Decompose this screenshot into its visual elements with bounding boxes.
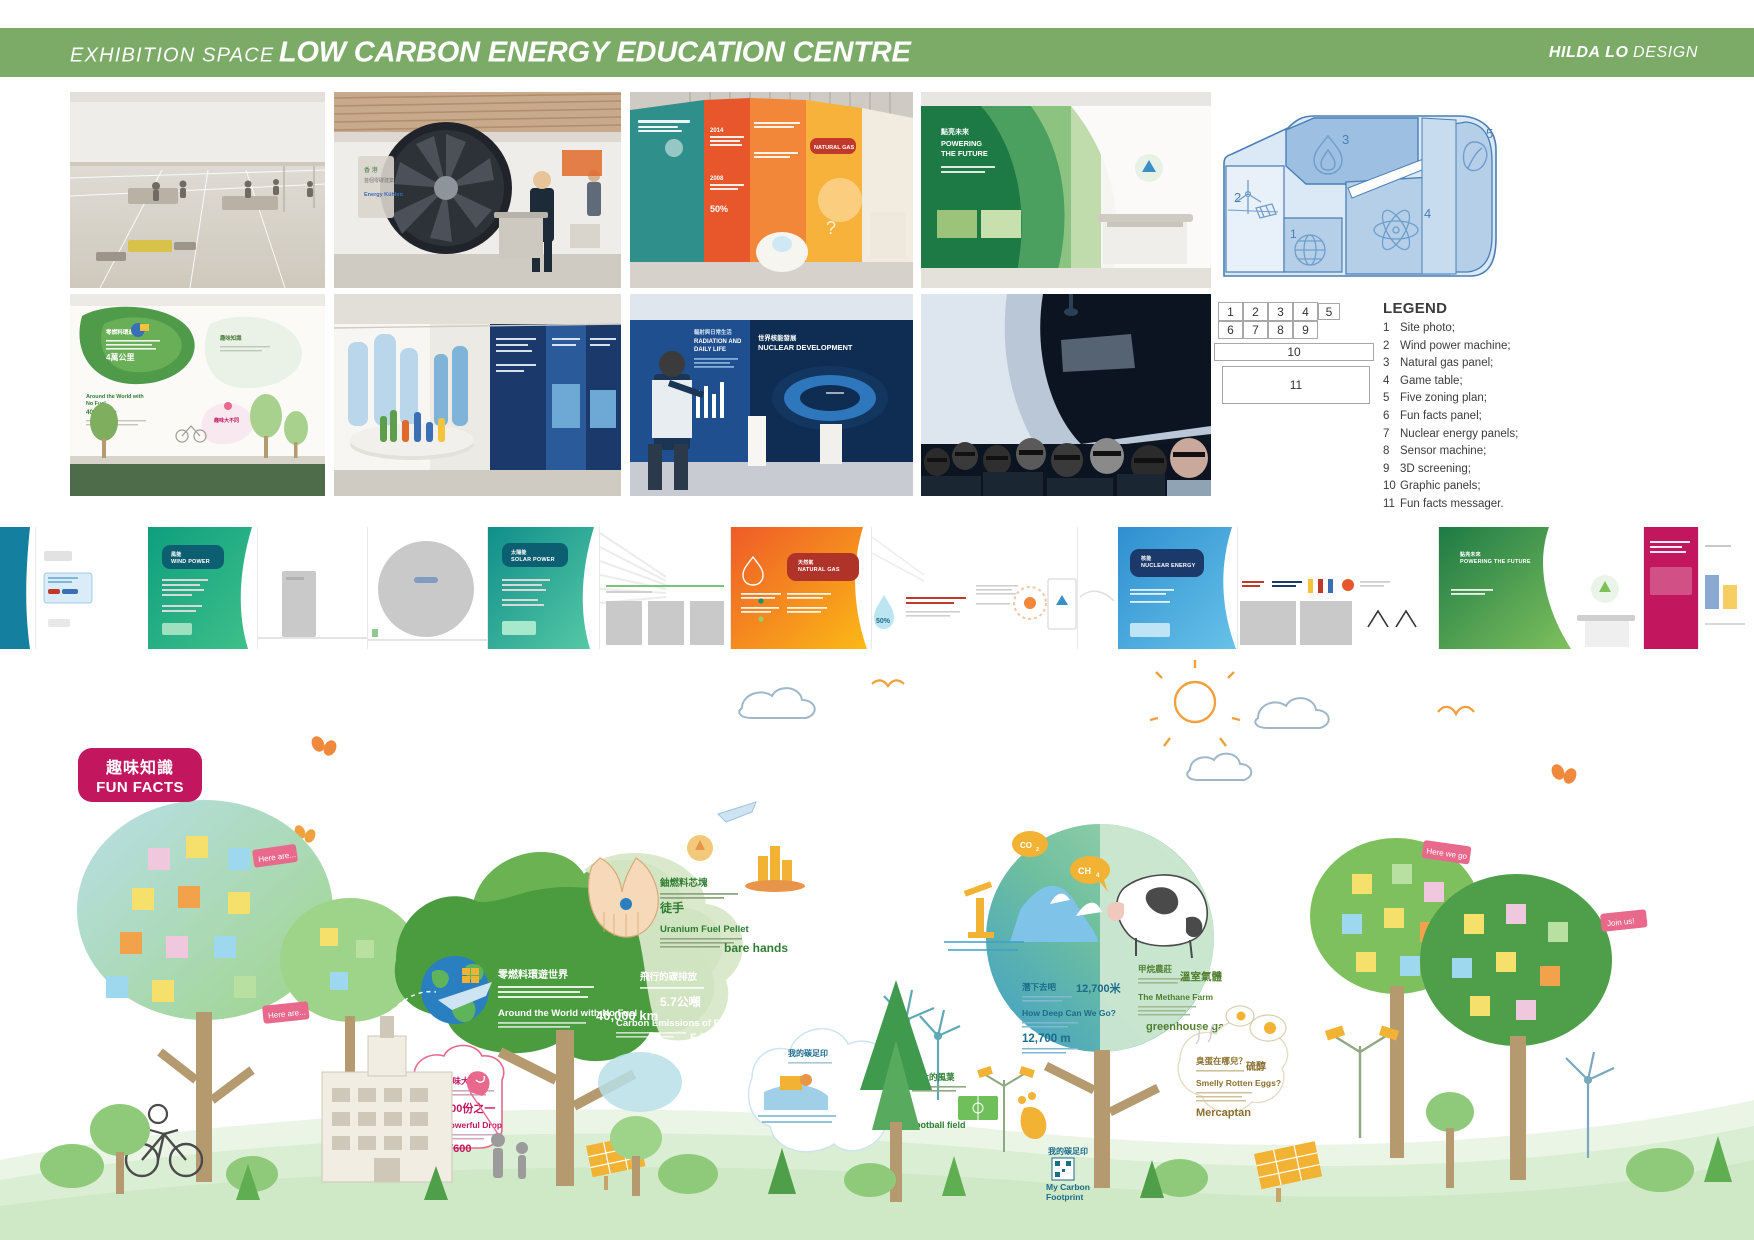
- legend-item-8: 8 Sensor machine;: [1383, 443, 1633, 461]
- svg-text:潛下去吧: 潛下去吧: [1022, 982, 1057, 992]
- legend-item-number: 7: [1383, 426, 1400, 444]
- legend-item-9: 9 3D screening;: [1383, 461, 1633, 479]
- co2-bubble-icon: CO 2: [1012, 831, 1048, 857]
- strip-panel-intro: [0, 527, 36, 649]
- svg-text:零燃料環遊世界: 零燃料環遊世界: [497, 968, 568, 981]
- legend-item-number: 1: [1383, 320, 1400, 338]
- svg-text:世界核能發展: 世界核能發展: [758, 333, 797, 342]
- svg-text:徒手: 徒手: [659, 900, 684, 915]
- strip-tag-cn: 風能: [171, 552, 210, 559]
- svg-text:Smelly Rotten Eggs?: Smelly Rotten Eggs?: [1196, 1078, 1281, 1088]
- legend-item-label: Game table;: [1400, 373, 1633, 391]
- strip-panel-wind-turbine: [258, 527, 368, 649]
- svg-text:我的碳足印: 我的碳足印: [788, 1048, 828, 1058]
- svg-text:?: ?: [826, 218, 836, 238]
- football-field-icon: [958, 1096, 998, 1120]
- svg-text:點亮未來: 點亮未來: [940, 127, 970, 136]
- legend-item-4: 4 Game table;: [1383, 373, 1633, 391]
- svg-text:溫室氣體: 溫室氣體: [1180, 970, 1222, 983]
- svg-text:50%: 50%: [876, 618, 891, 625]
- key-box-3: 3: [1268, 302, 1293, 321]
- building-icon: [322, 1016, 452, 1182]
- strip-tag-natural-gas: 天然氣 NATURAL GAS: [793, 557, 845, 577]
- svg-text:NUCLEAR DEVELOPMENT: NUCLEAR DEVELOPMENT: [758, 343, 853, 352]
- legend-item-number: 9: [1383, 461, 1400, 479]
- mural-illustration: Here are...: [0, 660, 1754, 1240]
- zone-number-4: 4: [1424, 206, 1431, 221]
- svg-text:Powerful Drop: Powerful Drop: [444, 1120, 502, 1130]
- legend-item-2: 2 Wind power machine;: [1383, 338, 1633, 356]
- legend-item-label: Nuclear energy panels;: [1400, 426, 1633, 444]
- strip-panel-intro-card: [36, 527, 148, 649]
- svg-text:Uranium Fuel Pellet: Uranium Fuel Pellet: [660, 924, 750, 935]
- legend-item-number: 10: [1383, 478, 1400, 496]
- svg-text:5.7公噸: 5.7公噸: [660, 994, 701, 1009]
- designer-role: DESIGN: [1633, 44, 1698, 61]
- legend-item-number: 6: [1383, 408, 1400, 426]
- svg-text:CH: CH: [1078, 866, 1091, 876]
- legend-item-number: 11: [1383, 496, 1400, 514]
- svg-text:5.7 tonnes: 5.7 tonnes: [690, 1031, 750, 1045]
- svg-text:首個零碳建築: 首個零碳建築: [364, 177, 394, 184]
- legend-item-label: Sensor machine;: [1400, 443, 1633, 461]
- strip-tag-cn: 核能: [1141, 556, 1195, 563]
- page-header: EXHIBITION SPACE LOW CARBON ENERGY EDUCA…: [0, 28, 1754, 77]
- strip-panel-wind-power: 風能 WIND POWER: [148, 527, 258, 649]
- svg-text:2: 2: [1036, 847, 1039, 853]
- photo-nuclear-energy-panels: [334, 294, 621, 496]
- strip-panel-turbine-disc: [368, 527, 488, 649]
- svg-text:Energy Kühlen: Energy Kühlen: [364, 192, 403, 198]
- legend-item-label: Fun facts panel;: [1400, 408, 1633, 426]
- svg-text:NATURAL GAS: NATURAL GAS: [814, 145, 854, 151]
- strip-panel-natural-gas: 天然氣 NATURAL GAS: [731, 527, 872, 649]
- photo-site-photo: [70, 92, 325, 288]
- key-box-1: 1: [1218, 302, 1243, 321]
- legend-item-number: 2: [1383, 338, 1400, 356]
- svg-text:My Carbon: My Carbon: [1046, 1182, 1090, 1192]
- svg-text:The Methane Farm: The Methane Farm: [1138, 992, 1214, 1002]
- svg-text:Mercaptan: Mercaptan: [1196, 1107, 1251, 1119]
- svg-text:趣味知識: 趣味知識: [219, 334, 242, 342]
- strip-tag-cn: 太陽能: [511, 550, 555, 557]
- strip-panel-nuclear-info: [1238, 527, 1439, 649]
- strip-panel-gas-info: 50%: [872, 527, 1078, 649]
- svg-text:臭蛋在哪兒？: 臭蛋在哪兒？: [1196, 1056, 1247, 1066]
- svg-text:Carbon Emissions of Flying: Carbon Emissions of Flying: [616, 1018, 742, 1029]
- page-title: EXHIBITION SPACE LOW CARBON ENERGY EDUCA…: [70, 36, 911, 69]
- fun-facts-badge-cn: 趣味知識: [106, 754, 174, 778]
- sun-icon: [1150, 660, 1240, 746]
- zone-number-5: 5: [1486, 126, 1493, 141]
- fun-facts-badge-en: FUN FACTS: [96, 779, 184, 796]
- strip-panel-solar-power: 太陽能 SOLAR POWER: [488, 527, 600, 649]
- svg-text:CO: CO: [1020, 841, 1032, 850]
- strip-tag-cn: 點亮未來: [1460, 552, 1531, 559]
- svg-text:4萬公里: 4萬公里: [106, 352, 134, 362]
- fun-facts-mural: Here are...: [0, 660, 1754, 1240]
- strip-tag-en: NATURAL GAS: [798, 567, 840, 573]
- designer-name: HILDA LO: [1549, 44, 1629, 61]
- legend-item-number: 5: [1383, 390, 1400, 408]
- legend-item-label: Wind power machine;: [1400, 338, 1633, 356]
- strip-tag-wind-power: 風能 WIND POWER: [166, 549, 215, 569]
- qr-code-icon: [1052, 1158, 1074, 1180]
- zone-number-1: 1: [1290, 227, 1297, 241]
- key-box-2: 2: [1243, 302, 1268, 321]
- key-box-11: 11: [1222, 366, 1370, 404]
- legend-item-label: Five zoning plan;: [1400, 390, 1633, 408]
- key-box-6: 6: [1218, 321, 1243, 339]
- zone-5-shape: [1454, 122, 1492, 272]
- zone-number-3: 3: [1342, 132, 1349, 147]
- legend-item-label: Site photo;: [1400, 320, 1633, 338]
- photo-game-table: 點亮未來 POWERING THE FUTURE: [921, 92, 1211, 288]
- legend: LEGEND 1 Site photo; 2 Wind power machin…: [1383, 300, 1633, 514]
- legend-item-10: 10 Graphic panels;: [1383, 478, 1633, 496]
- five-zoning-plan: 3 2 1 4 5: [1218, 110, 1502, 278]
- svg-text:Footprint: Footprint: [1046, 1192, 1083, 1202]
- strip-tag-solar-power: 太陽能 SOLAR POWER: [506, 547, 560, 567]
- strip-tag-powering-the-future: 點亮未來 POWERING THE FUTURE: [1455, 549, 1536, 569]
- designer-credit: HILDA LO DESIGN: [1549, 44, 1698, 62]
- svg-text:How Deep Can We Go?: How Deep Can We Go?: [1022, 1008, 1116, 1018]
- legend-item-label: Natural gas panel;: [1400, 355, 1633, 373]
- strip-panel-magenta: [1644, 527, 1699, 649]
- svg-text:THE FUTURE: THE FUTURE: [941, 149, 988, 158]
- legend-item-number: 3: [1383, 355, 1400, 373]
- page-title-main: LOW CARBON ENERGY EDUCATION CENTRE: [279, 36, 911, 68]
- zone-2-shape: [1226, 166, 1284, 272]
- fun-facts-badge: 趣味知識 FUN FACTS: [78, 748, 202, 802]
- strip-tag-cn: 天然氣: [798, 560, 840, 567]
- cloud-icon: [739, 688, 1328, 780]
- svg-text:DAILY LIFE: DAILY LIFE: [694, 347, 726, 353]
- street-lamp-icon: [1334, 1036, 1386, 1138]
- svg-text:我的碳足印: 我的碳足印: [1048, 1146, 1088, 1156]
- legend-item-3: 3 Natural gas panel;: [1383, 355, 1633, 373]
- key-box-4: 4: [1293, 302, 1318, 321]
- key-box-8: 8: [1268, 321, 1293, 339]
- strip-tag-en: SOLAR POWER: [511, 557, 555, 563]
- key-box-7: 7: [1243, 321, 1268, 339]
- photo-wind-power-machine: 香 港 首個零碳建築 Energy Kühlen: [334, 92, 621, 288]
- svg-text:香 港: 香 港: [364, 166, 378, 174]
- legend-item-number: 4: [1383, 373, 1400, 391]
- legend-item-11: 11 Fun facts messager.: [1383, 496, 1633, 514]
- svg-text:12,700米: 12,700米: [1076, 981, 1122, 995]
- strip-tag-en: NUCLEAR ENERGY: [1141, 563, 1195, 569]
- svg-text:12,700 m: 12,700 m: [1022, 1033, 1071, 1045]
- key-box-10: 10: [1214, 343, 1374, 361]
- legend-title: LEGEND: [1383, 300, 1633, 317]
- strip-tag-en: POWERING THE FUTURE: [1460, 559, 1531, 565]
- strip-panel-end: [1699, 527, 1754, 649]
- svg-text:硫醇: 硫醇: [1246, 1060, 1266, 1073]
- elevation-strip: 風能 WIND POWER: [0, 527, 1754, 649]
- strip-tag-en: WIND POWER: [171, 559, 210, 565]
- photo-sensor-machine: 世界核能發展 NUCLEAR DEVELOPMENT 輻射與日常生活 RADIA…: [630, 294, 913, 496]
- page-title-prefix: EXHIBITION SPACE: [70, 44, 274, 66]
- butterfly-icon: [293, 734, 1579, 844]
- svg-text:飛行的碳排放: 飛行的碳排放: [639, 971, 698, 983]
- photo-3d-screening: [921, 294, 1211, 496]
- svg-text:2014: 2014: [710, 128, 724, 134]
- svg-text:RADIATION AND: RADIATION AND: [694, 339, 742, 345]
- strip-panel-nuclear-energy: 核能 NUCLEAR ENERGY: [1078, 527, 1238, 649]
- svg-text:50%: 50%: [710, 204, 728, 214]
- legend-item-label: 3D screening;: [1400, 461, 1633, 479]
- legend-item-6: 6 Fun facts panel;: [1383, 408, 1633, 426]
- svg-text:POWERING: POWERING: [941, 139, 982, 148]
- legend-item-5: 5 Five zoning plan;: [1383, 390, 1633, 408]
- legend-item-1: 1 Site photo;: [1383, 320, 1633, 338]
- svg-text:鈾燃料芯塊: 鈾燃料芯塊: [659, 877, 708, 889]
- strip-tag-nuclear-energy: 核能 NUCLEAR ENERGY: [1136, 553, 1200, 573]
- zone-number-2: 2: [1234, 190, 1241, 205]
- svg-text:bare hands: bare hands: [724, 941, 788, 955]
- sticky-note-join-us: Join us!: [1600, 909, 1648, 932]
- strip-panel-powering-the-future: 點亮未來 POWERING THE FUTURE: [1439, 527, 1644, 649]
- footprint-icon: [1018, 1092, 1046, 1139]
- svg-text:輻射與日常生活: 輻射與日常生活: [694, 328, 732, 336]
- photo-natural-gas-panel: 2014 2008 50% NATURAL GAS ?: [630, 92, 913, 288]
- legend-item-label: Graphic panels;: [1400, 478, 1633, 496]
- legend-item-number: 8: [1383, 443, 1400, 461]
- photo-fun-facts-panel: 零燃料環遊世界 4萬公里 Around the World with No Fu…: [70, 294, 325, 496]
- svg-text:趣味大不同: 趣味大不同: [213, 417, 239, 424]
- svg-text:Around the World with: Around the World with: [86, 394, 144, 400]
- svg-text:2008: 2008: [710, 176, 724, 182]
- svg-text:甲烷農莊: 甲烷農莊: [1138, 964, 1173, 974]
- legend-item-label: Fun facts messager.: [1400, 496, 1633, 514]
- key-box-9: 9: [1293, 321, 1318, 339]
- strip-panel-solar-info: [600, 527, 731, 649]
- legend-item-7: 7 Nuclear energy panels;: [1383, 426, 1633, 444]
- svg-text:football field: football field: [912, 1120, 966, 1130]
- bird-icon: [872, 680, 1474, 714]
- legend-key-grid: 1 2 3 4 5 6 7 8 9 10 11: [1218, 302, 1378, 412]
- key-box-5: 5: [1318, 303, 1340, 320]
